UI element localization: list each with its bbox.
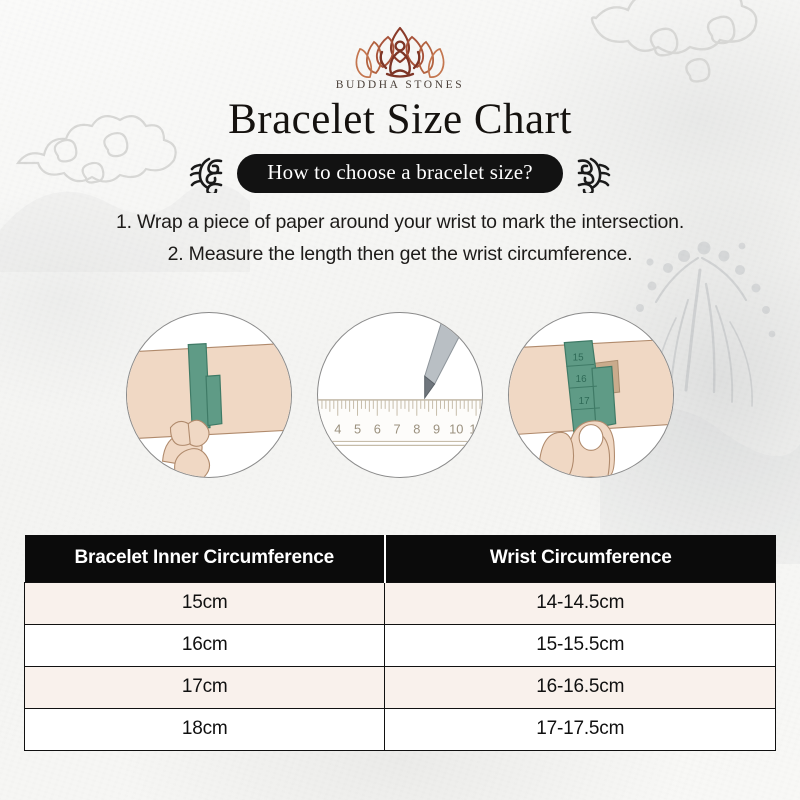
page-title: Bracelet Size Chart	[0, 97, 800, 142]
table-body: 15cm 14-14.5cm 16cm 15-15.5cm 17cm 16-16…	[25, 583, 776, 751]
cell-wrist-circumference: 15-15.5cm	[385, 625, 776, 667]
cell-bracelet-circumference: 16cm	[25, 625, 385, 667]
table-row: 16cm 15-15.5cm	[25, 625, 776, 667]
instruction-step: 1. Wrap a piece of paper around your wri…	[0, 207, 800, 239]
svg-text:11: 11	[469, 422, 482, 437]
svg-text:17: 17	[579, 396, 590, 407]
svg-text:10: 10	[449, 422, 463, 437]
illustration-wrap-paper	[126, 312, 292, 478]
column-header-bracelet: Bracelet Inner Circumference	[25, 535, 385, 583]
svg-text:4: 4	[334, 422, 341, 437]
table-row: 17cm 16-16.5cm	[25, 667, 776, 709]
size-chart-page: BUDDHA STONES Bracelet Size Chart How to…	[0, 0, 800, 800]
cell-wrist-circumference: 14-14.5cm	[385, 583, 776, 625]
cell-bracelet-circumference: 18cm	[25, 709, 385, 751]
ruler-and-pencil-icon: 34 56 78 910 11	[318, 313, 482, 477]
brand-logo: BUDDHA STONES	[0, 0, 800, 91]
how-to-banner: How to choose a bracelet size?	[0, 153, 800, 193]
instructions-list: 1. Wrap a piece of paper around your wri…	[0, 207, 800, 270]
cell-wrist-circumference: 17-17.5cm	[385, 709, 776, 751]
table-header: Bracelet Inner Circumference Wrist Circu…	[25, 535, 776, 583]
svg-text:5: 5	[354, 422, 361, 437]
svg-text:16: 16	[576, 374, 587, 385]
illustration-row: 34 56 78 910 11	[0, 312, 800, 478]
cell-wrist-circumference: 16-16.5cm	[385, 667, 776, 709]
table-header-row: Bracelet Inner Circumference Wrist Circu…	[25, 535, 776, 583]
banner-label: How to choose a bracelet size?	[237, 154, 562, 193]
svg-text:15: 15	[573, 352, 584, 363]
lotus-meditation-icon	[338, 22, 462, 78]
tape-measure-on-wrist-icon: 15 16 17	[509, 313, 673, 477]
table-row: 15cm 14-14.5cm	[25, 583, 776, 625]
svg-text:7: 7	[393, 422, 400, 437]
size-chart-table: Bracelet Inner Circumference Wrist Circu…	[24, 535, 776, 751]
svg-text:8: 8	[413, 422, 420, 437]
svg-text:3: 3	[318, 422, 322, 437]
cell-bracelet-circumference: 17cm	[25, 667, 385, 709]
flourish-ornament-icon	[187, 153, 227, 193]
illustration-ruler: 34 56 78 910 11	[317, 312, 483, 478]
svg-text:6: 6	[374, 422, 381, 437]
page-header: BUDDHA STONES Bracelet Size Chart How to…	[0, 0, 800, 270]
flourish-ornament-icon	[573, 153, 613, 193]
illustration-tape-measure: 15 16 17	[508, 312, 674, 478]
svg-text:9: 9	[433, 422, 440, 437]
cell-bracelet-circumference: 15cm	[25, 583, 385, 625]
table-row: 18cm 17-17.5cm	[25, 709, 776, 751]
brand-name: BUDDHA STONES	[336, 79, 464, 91]
wrist-with-paper-strip-icon	[127, 313, 291, 477]
column-header-wrist: Wrist Circumference	[385, 535, 776, 583]
instruction-step: 2. Measure the length then get the wrist…	[0, 239, 800, 271]
